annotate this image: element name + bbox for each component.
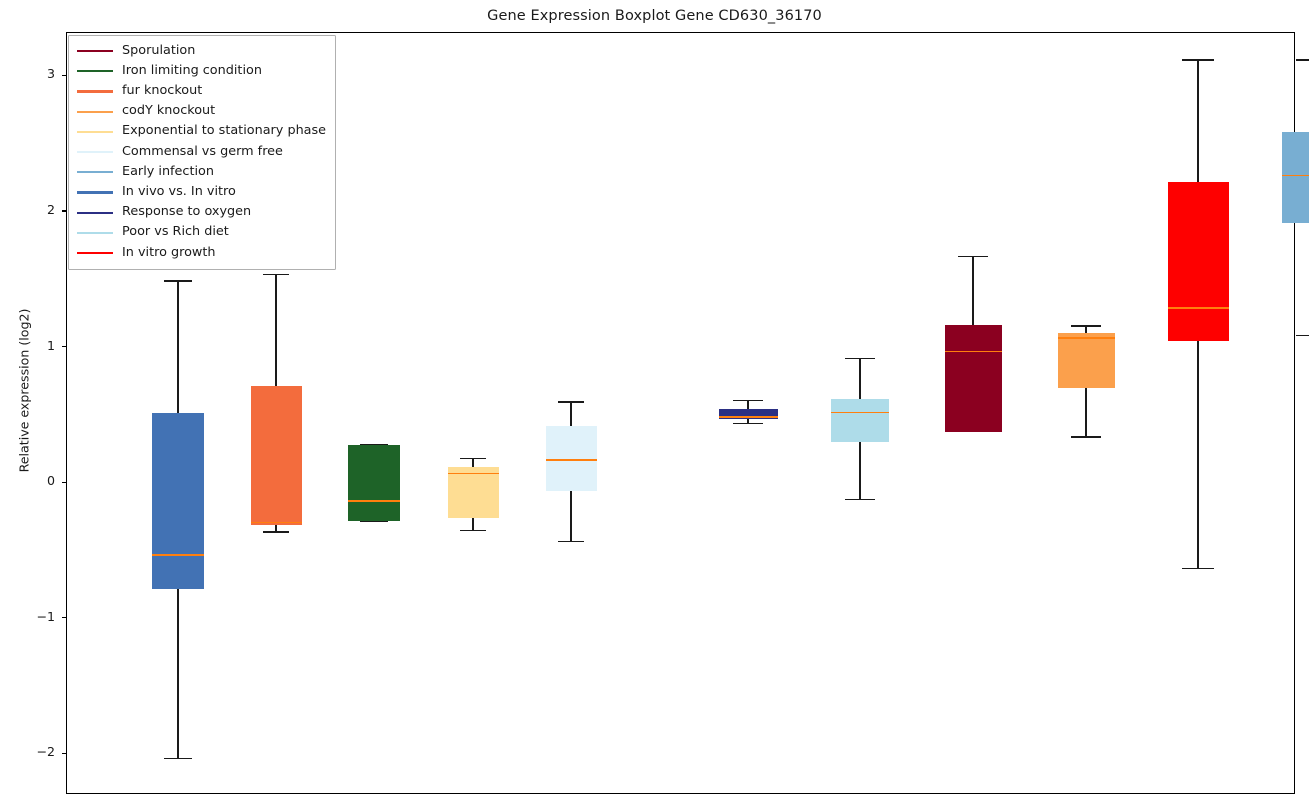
y-tick-mark — [62, 346, 67, 347]
cap-upper — [1071, 325, 1101, 327]
boxplot-box — [831, 33, 889, 795]
whisker-upper — [177, 281, 178, 413]
y-tick-label: 1 — [47, 338, 55, 353]
legend-item: Iron limiting condition — [77, 61, 326, 81]
median-line — [448, 473, 499, 475]
legend-color-swatch — [77, 90, 113, 92]
cap-lower — [1296, 335, 1309, 337]
whisker-upper — [1197, 60, 1198, 182]
boxplot-box — [448, 33, 499, 795]
median-line — [546, 459, 597, 461]
boxplot-box — [1168, 33, 1229, 795]
boxplot-box — [1058, 33, 1115, 795]
legend-item: Early infection — [77, 162, 326, 182]
whisker-lower — [177, 589, 178, 758]
box-rect — [831, 399, 889, 442]
whisker-upper — [747, 400, 748, 408]
legend-item-label: Sporulation — [122, 45, 195, 58]
cap-upper — [164, 280, 191, 282]
boxplot-box — [719, 33, 778, 795]
legend-color-swatch — [77, 111, 113, 113]
y-axis-label: Relative expression (log2) — [17, 261, 32, 521]
legend-color-swatch — [77, 50, 113, 52]
legend-item-label: Iron limiting condition — [122, 65, 262, 78]
boxplot-box — [546, 33, 597, 795]
boxplot-box — [945, 33, 1002, 795]
median-line — [1168, 307, 1229, 309]
legend-item-label: Poor vs Rich diet — [122, 226, 229, 239]
legend-item: codY knockout — [77, 102, 326, 122]
boxplot-figure: Gene Expression Boxplot Gene CD630_36170… — [0, 0, 1309, 812]
cap-upper — [1296, 59, 1309, 61]
legend-color-swatch — [77, 191, 113, 193]
whisker-lower — [1197, 341, 1198, 569]
legend-item-label: fur knockout — [122, 85, 202, 98]
legend-color-swatch — [77, 171, 113, 173]
legend-item-label: Response to oxygen — [122, 206, 251, 219]
median-line — [251, 522, 302, 524]
legend-color-swatch — [77, 70, 113, 72]
cap-lower — [164, 758, 191, 760]
page-title: Gene Expression Boxplot Gene CD630_36170 — [0, 8, 1309, 24]
median-line — [831, 412, 889, 414]
cap-upper — [958, 256, 988, 258]
box-rect — [251, 386, 302, 526]
cap-upper — [263, 274, 290, 276]
cap-upper — [733, 400, 764, 402]
y-tick-mark — [62, 75, 67, 76]
whisker-lower — [472, 518, 473, 530]
y-tick-mark — [62, 753, 67, 754]
whisker-upper — [570, 402, 571, 426]
legend-item-label: Commensal vs germ free — [122, 146, 283, 159]
legend-item-label: codY knockout — [122, 105, 215, 118]
legend-item: Response to oxygen — [77, 203, 326, 223]
legend-item-label: Early infection — [122, 166, 214, 179]
y-tick-label: −1 — [36, 609, 55, 624]
whisker-lower — [570, 491, 571, 541]
whisker-upper — [1085, 326, 1086, 333]
y-tick-mark — [62, 482, 67, 483]
boxplot-box — [348, 33, 400, 795]
box-rect — [348, 445, 400, 521]
whisker-lower — [859, 442, 860, 499]
cap-upper — [845, 358, 875, 360]
box-rect — [1282, 132, 1309, 223]
cap-lower — [460, 530, 487, 532]
legend-item-label: In vivo vs. In vitro — [122, 186, 236, 199]
legend-item: In vivo vs. In vitro — [77, 182, 326, 202]
legend: SporulationIron limiting conditionfur kn… — [68, 35, 336, 270]
legend-color-swatch — [77, 131, 113, 133]
box-rect — [719, 409, 778, 420]
median-line — [1058, 337, 1115, 339]
legend-item: In vitro growth — [77, 243, 326, 263]
y-tick-mark — [62, 210, 67, 211]
whisker-upper — [972, 257, 973, 325]
y-tick-label: 2 — [47, 202, 55, 217]
cap-lower — [263, 531, 290, 533]
whisker-upper — [859, 358, 860, 399]
box-rect — [945, 325, 1002, 432]
legend-color-swatch — [77, 151, 113, 153]
median-line — [945, 351, 1002, 353]
y-tick-mark — [62, 617, 67, 618]
median-line — [152, 554, 204, 556]
box-rect — [1058, 333, 1115, 389]
legend-color-swatch — [77, 252, 113, 254]
legend-item: Commensal vs germ free — [77, 142, 326, 162]
boxplot-box — [1282, 33, 1309, 795]
cap-upper — [1182, 59, 1214, 61]
legend-item: Poor vs Rich diet — [77, 223, 326, 243]
cap-upper — [558, 401, 585, 403]
legend-item-label: Exponential to stationary phase — [122, 125, 326, 138]
y-tick-label: 0 — [47, 473, 55, 488]
legend-color-swatch — [77, 212, 113, 214]
legend-color-swatch — [77, 232, 113, 234]
cap-lower — [1071, 436, 1101, 438]
legend-item-label: In vitro growth — [122, 247, 216, 260]
whisker-upper — [472, 459, 473, 467]
cap-lower — [558, 541, 585, 543]
whisker-lower — [1085, 388, 1086, 437]
legend-item: Exponential to stationary phase — [77, 122, 326, 142]
y-tick-label: −2 — [36, 744, 55, 759]
cap-lower — [733, 423, 764, 425]
legend-item: fur knockout — [77, 81, 326, 101]
legend-item: Sporulation — [77, 41, 326, 61]
median-line — [1282, 175, 1309, 177]
whisker-upper — [275, 274, 276, 385]
cap-upper — [460, 458, 487, 460]
cap-lower — [845, 499, 875, 501]
y-tick-label: 3 — [47, 66, 55, 81]
cap-lower — [1182, 568, 1214, 570]
box-rect — [1168, 182, 1229, 341]
box-rect — [448, 467, 499, 519]
box-rect — [152, 413, 204, 589]
median-line — [348, 500, 400, 502]
median-line — [719, 416, 778, 418]
